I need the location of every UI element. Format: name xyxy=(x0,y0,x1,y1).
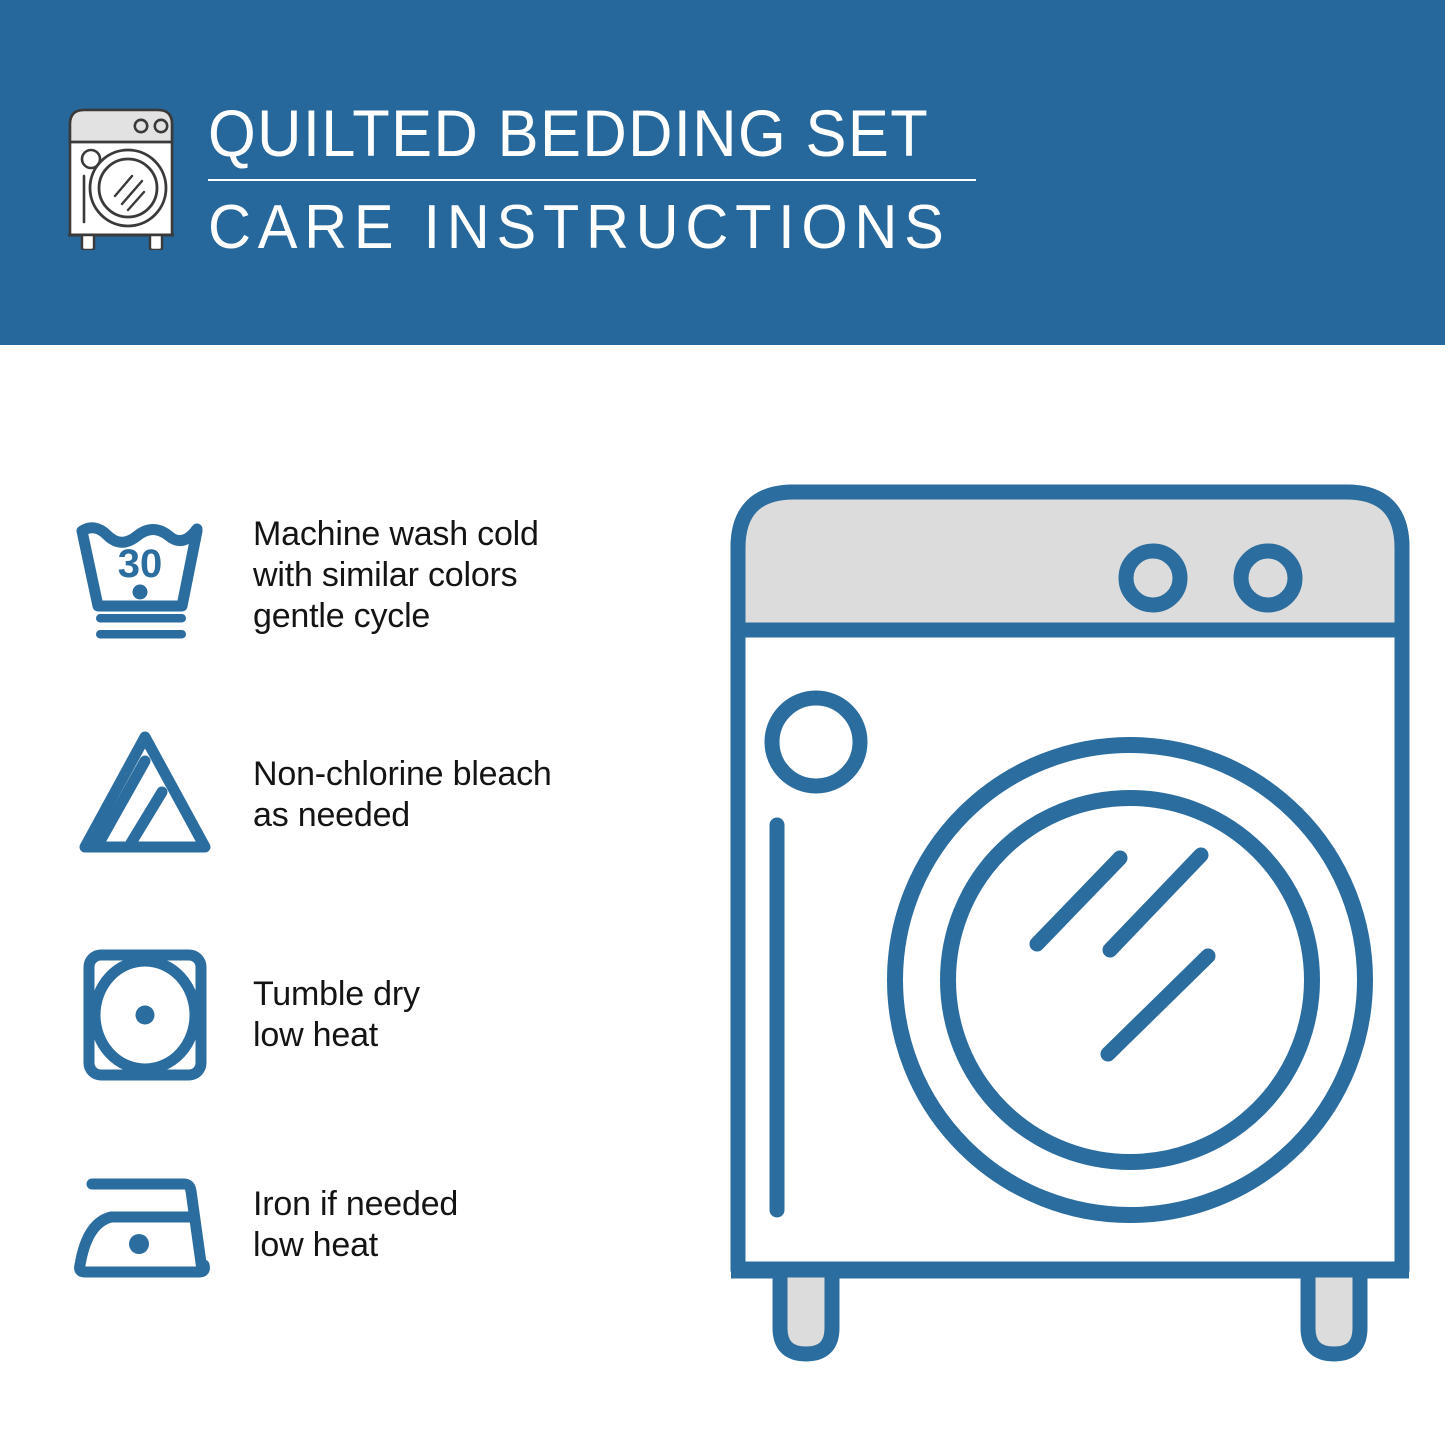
care-item-label: Tumble dry low heat xyxy=(253,974,420,1056)
care-item-tumble-dry: Tumble dry low heat xyxy=(0,935,700,1095)
wash-tub-30-gentle-icon: 30 xyxy=(65,495,225,655)
iron-low-heat-icon xyxy=(65,1145,225,1305)
care-line: low heat xyxy=(253,1015,420,1056)
tumble-dry-low-heat-icon xyxy=(65,935,225,1095)
care-line: gentle cycle xyxy=(253,596,539,637)
care-line: Tumble dry xyxy=(253,974,420,1015)
washing-machine-logo-icon xyxy=(62,100,180,250)
header-banner: QUILTED BEDDING SET CARE INSTRUCTIONS xyxy=(0,0,1445,345)
care-line: Machine wash cold xyxy=(253,514,539,555)
care-line: Iron if needed xyxy=(253,1184,458,1225)
care-line: with similar colors xyxy=(253,555,539,596)
care-instructions-list: 30 Machine wash cold with similar colors… xyxy=(0,345,700,1445)
care-item-iron: Iron if needed low heat xyxy=(0,1145,700,1305)
care-line: Non-chlorine bleach xyxy=(253,754,552,795)
non-chlorine-bleach-triangle-icon xyxy=(65,715,225,875)
care-item-label: Machine wash cold with similar colors ge… xyxy=(253,514,539,637)
care-item-label: Iron if needed low heat xyxy=(253,1184,458,1266)
washer-control-panel xyxy=(738,492,1402,630)
care-item-bleach: Non-chlorine bleach as needed xyxy=(0,715,700,875)
washer-leg-right xyxy=(1308,1270,1360,1354)
page-title: QUILTED BEDDING SET xyxy=(208,96,952,170)
care-item-label: Non-chlorine bleach as needed xyxy=(253,754,552,836)
care-item-machine-wash: 30 Machine wash cold with similar colors… xyxy=(0,495,700,655)
washing-machine-illustration xyxy=(720,470,1420,1380)
page-subtitle: CARE INSTRUCTIONS xyxy=(208,193,976,263)
header-divider xyxy=(208,179,976,181)
care-line: as needed xyxy=(253,795,552,836)
header-text-block: QUILTED BEDDING SET CARE INSTRUCTIONS xyxy=(208,96,1008,263)
washer-leg-left xyxy=(780,1270,832,1354)
care-line: low heat xyxy=(253,1225,458,1266)
svg-text:30: 30 xyxy=(118,542,163,586)
